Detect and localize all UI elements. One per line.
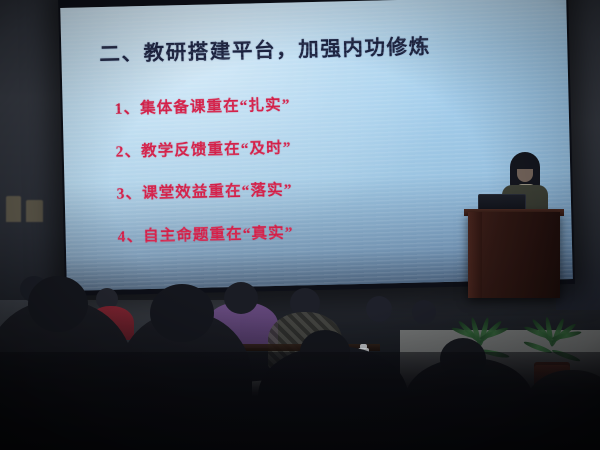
slide-bullet-4: 4、自主命题重在“真实” bbox=[117, 220, 293, 246]
foreground-shadow bbox=[0, 352, 600, 450]
shelf-object-a bbox=[6, 196, 21, 222]
slide-bullet-3: 3、课堂效益重在“落实” bbox=[116, 178, 292, 204]
slide-title: 二、教研搭建平台，加强内功修炼 bbox=[99, 29, 431, 67]
audience-head bbox=[28, 276, 88, 332]
slide-bullet-1: 1、集体备课重在“扎实” bbox=[114, 93, 290, 119]
presentation-photo: 二、教研搭建平台，加强内功修炼 1、集体备课重在“扎实” 2、教学反馈重在“及时… bbox=[0, 0, 600, 450]
audience-head bbox=[150, 284, 214, 342]
shelf-object-b bbox=[26, 200, 43, 222]
audience-head bbox=[366, 296, 392, 322]
audience-head bbox=[224, 282, 258, 314]
presenter-fringe bbox=[514, 158, 536, 169]
slide-bullet-list: 1、集体备课重在“扎实” 2、教学反馈重在“及时” 3、课堂效益重在“落实” 4… bbox=[114, 93, 294, 267]
slide-bullet-2: 2、教学反馈重在“及时” bbox=[115, 135, 291, 161]
audience-head bbox=[412, 300, 436, 324]
podium-side-panel bbox=[468, 212, 482, 298]
